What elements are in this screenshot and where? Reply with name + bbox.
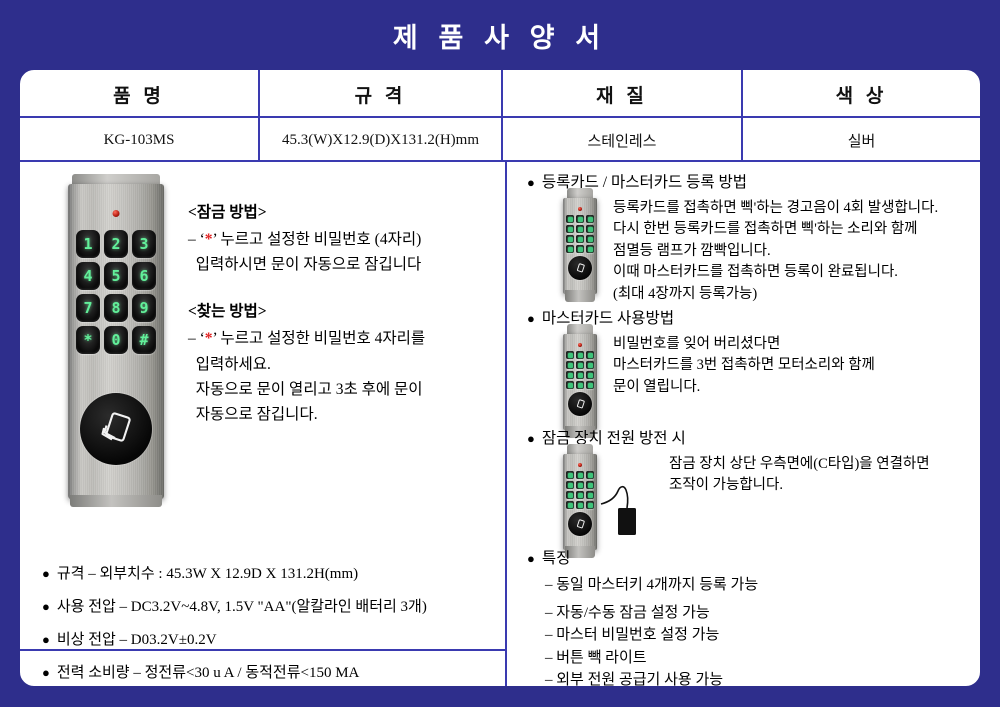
section-title-power-discharge: 잠금 장치 전원 방전 시	[542, 426, 686, 448]
key-cell	[576, 215, 584, 223]
bullet-icon: ●	[527, 552, 535, 565]
lock-method-heading: <잠금 방법>	[188, 200, 488, 225]
header-cell-dimensions: 규 격	[260, 70, 503, 118]
spec-item-emergency-voltage: ● 비상 전압 – D03.2V±0.2V	[42, 628, 491, 649]
header-cell-material: 재 질	[503, 70, 743, 118]
key-cell	[586, 371, 594, 379]
find-method-line-3: 자동으로 문이 열리고 3초 후에 문이	[188, 377, 488, 402]
rfid-reader-area	[568, 392, 592, 416]
lock-method-line-1: – ‘*’ 누르고 설정한 비밀번호 (4자리)	[188, 227, 488, 252]
key-asterisk[interactable]: *	[76, 326, 100, 354]
section-mastercard-usage: ● 마스터카드 사용방법	[527, 306, 972, 430]
feature-item-auto-manual-lock: – 자동/수동 잠금 설정 가능	[545, 602, 972, 625]
key-cell	[576, 351, 584, 359]
spec-text-emergency-voltage: 비상 전압 – D03.2V±0.2V	[57, 628, 217, 649]
lock-line1-prefix: – ‘	[188, 231, 205, 248]
key-9[interactable]: 9	[132, 294, 156, 322]
rfid-card-icon	[574, 262, 587, 275]
key-cell	[586, 491, 594, 499]
key-cell	[566, 361, 574, 369]
spec-item-dimensions: ● 규격 – 외부치수 : 45.3W X 12.9D X 131.2H(mm)	[42, 562, 491, 583]
status-led-indicator	[113, 210, 120, 217]
key-2[interactable]: 2	[104, 230, 128, 258]
key-cell	[586, 215, 594, 223]
key-cell	[586, 361, 594, 369]
asterisk-symbol: *	[205, 231, 213, 248]
section-body: 잠금 장치 상단 우측면에(C타입)을 연결하면 조작이 가능합니다.	[527, 454, 972, 550]
section-features: ● 특징 – 동일 마스터키 4개까지 등록 가능 – 자동/수동 잠금 설정 …	[527, 546, 972, 688]
key-8[interactable]: 8	[104, 294, 128, 322]
key-cell	[576, 225, 584, 233]
features-list: – 동일 마스터키 4개까지 등록 가능 – 자동/수동 잠금 설정 가능 – …	[527, 574, 972, 688]
section-power-discharge: ● 잠금 장치 전원 방전 시	[527, 426, 972, 550]
bullet-icon: ●	[42, 567, 50, 580]
product-spec-sheet: 제 품 사 양 서 품 명 규 격 재 질 색 상 KG-103MS 45.3(…	[0, 0, 1000, 707]
key-cell	[566, 491, 574, 499]
key-hash[interactable]: #	[132, 326, 156, 354]
section-card-registration: ● 등록카드 / 마스터카드 등록 방법	[527, 170, 972, 305]
key-cell	[586, 481, 594, 489]
key-cell	[576, 381, 584, 389]
product-photo-main: 1 2 3 4 5 6 7 8 9 * 0 #	[68, 184, 164, 499]
key-cell	[566, 245, 574, 253]
key-cell	[586, 235, 594, 243]
key-cell	[576, 501, 584, 509]
feature-item-master-password: – 마스터 비밀번호 설정 가능	[545, 624, 972, 647]
key-cell	[576, 491, 584, 499]
keypad-grid	[566, 471, 594, 509]
status-led-indicator	[578, 343, 582, 347]
lock-method-line-2: 입력하시면 문이 자동으로 잠깁니다	[188, 252, 488, 277]
text-spacer	[188, 277, 488, 299]
key-cell	[566, 371, 574, 379]
key-6[interactable]: 6	[132, 262, 156, 290]
rfid-reader-area	[568, 512, 592, 536]
key-cell	[566, 215, 574, 223]
spec-text-voltage: 사용 전압 – DC3.2V~4.8V, 1.5V "AA"(알칼라인 배터리 …	[57, 595, 427, 616]
key-cell	[566, 235, 574, 243]
usb-c-cable-illustration	[599, 454, 653, 550]
spec-text-dimensions: 규격 – 외부치수 : 45.3W X 12.9D X 131.2H(mm)	[57, 562, 358, 583]
asterisk-symbol-2: *	[205, 330, 213, 347]
status-led-indicator	[578, 463, 582, 467]
device-bottom-bevel	[70, 495, 162, 507]
device-bottom-bevel	[565, 290, 595, 302]
spec-item-voltage: ● 사용 전압 – DC3.2V~4.8V, 1.5V "AA"(알칼라인 배터…	[42, 595, 491, 616]
feature-item-external-power: – 외부 전원 공급기 사용 가능	[545, 669, 972, 688]
lock-line1-suffix: ’ 누르고 설정한 비밀번호 (4자리)	[213, 231, 422, 248]
table-body: 1 2 3 4 5 6 7 8 9 * 0 #	[20, 162, 980, 686]
key-cell	[586, 225, 594, 233]
key-7[interactable]: 7	[76, 294, 100, 322]
technical-specs-list: ● 규격 – 외부치수 : 45.3W X 12.9D X 131.2H(mm)…	[42, 562, 491, 688]
key-cell	[576, 371, 584, 379]
section-title-row: ● 특징	[527, 546, 972, 568]
section-body: 등록카드를 접촉하면 삑'하는 경고음이 4회 발생합니다. 다시 한번 등록카…	[527, 198, 972, 305]
power-bank-icon	[599, 472, 653, 542]
value-cell-dimensions: 45.3(W)X12.9(D)X131.2(H)mm	[260, 118, 503, 162]
bullet-icon: ●	[42, 600, 50, 613]
product-thumbnail-1	[563, 198, 597, 294]
rfid-card-icon	[574, 518, 587, 531]
key-cell	[576, 235, 584, 243]
section-title-row: ● 마스터카드 사용방법	[527, 306, 972, 328]
key-cell	[566, 225, 574, 233]
find-method-line-2: 입력하세요.	[188, 352, 488, 377]
keypad-grid: 1 2 3 4 5 6 7 8 9 * 0 #	[76, 230, 156, 354]
bullet-icon: ●	[527, 176, 535, 189]
key-cell	[576, 471, 584, 479]
key-cell	[576, 245, 584, 253]
key-cell	[566, 471, 574, 479]
section-text-mastercard-usage: 비밀번호를 잊어 버리셨다면 마스터카드를 3번 접촉하면 모터소리와 함께 문…	[613, 334, 875, 398]
keypad-grid	[566, 351, 594, 389]
key-cell	[586, 351, 594, 359]
feature-item-master-key: – 동일 마스터키 4개까지 등록 가능	[545, 574, 972, 597]
find-method-line-4: 자동으로 잠깁니다.	[188, 402, 488, 427]
key-cell	[586, 471, 594, 479]
bullet-icon: ●	[42, 666, 50, 679]
section-title-mastercard-usage: 마스터카드 사용방법	[542, 306, 674, 328]
key-cell	[566, 351, 574, 359]
feature-item-backlight: – 버튼 빽 라이트	[545, 647, 972, 670]
value-cell-product-name: KG-103MS	[20, 118, 260, 162]
spec-sheet-table: 품 명 규 격 재 질 색 상 KG-103MS 45.3(W)X12.9(D)…	[18, 68, 982, 688]
find-method-heading: <찾는 방법>	[188, 299, 488, 324]
value-cell-color: 실버	[743, 118, 980, 162]
section-title-row: ● 등록카드 / 마스터카드 등록 방법	[527, 170, 972, 192]
spec-text-power-consumption: 전력 소비량 – 정전류<30 u A / 동적전류<150 MA	[57, 661, 360, 682]
key-5[interactable]: 5	[104, 262, 128, 290]
rfid-card-icon	[574, 398, 587, 411]
key-cell	[566, 481, 574, 489]
key-cell	[586, 245, 594, 253]
section-title-features: 특징	[542, 546, 571, 568]
find-line1-prefix: – ‘	[188, 330, 205, 347]
bullet-icon: ●	[527, 432, 535, 445]
product-thumbnail-2	[563, 334, 597, 430]
find-method-line-1: – ‘*’ 누르고 설정한 비밀번호 4자리를	[188, 326, 488, 351]
find-line1-suffix: ’ 누르고 설정한 비밀번호 4자리를	[213, 330, 426, 347]
section-text-power-discharge: 잠금 장치 상단 우측면에(C타입)을 연결하면 조작이 가능합니다.	[669, 454, 930, 497]
section-text-card-registration: 등록카드를 접촉하면 삑'하는 경고음이 4회 발생합니다. 다시 한번 등록카…	[613, 198, 938, 305]
header-cell-color: 색 상	[743, 70, 980, 118]
rfid-reader-area	[568, 256, 592, 280]
header-cell-product-name: 품 명	[20, 70, 260, 118]
product-thumbnail-3	[563, 454, 597, 550]
key-cell	[586, 381, 594, 389]
key-cell	[566, 501, 574, 509]
left-panel: 1 2 3 4 5 6 7 8 9 * 0 #	[20, 162, 505, 686]
keypad-grid	[566, 215, 594, 253]
rfid-reader-area[interactable]	[80, 393, 152, 465]
status-led-indicator	[578, 207, 582, 211]
key-0[interactable]: 0	[104, 326, 128, 354]
bullet-icon: ●	[42, 633, 50, 646]
bullet-icon: ●	[527, 312, 535, 325]
key-cell	[586, 501, 594, 509]
section-title-row: ● 잠금 장치 전원 방전 시	[527, 426, 972, 448]
value-cell-material: 스테인레스	[503, 118, 743, 162]
table-value-row: KG-103MS 45.3(W)X12.9(D)X131.2(H)mm 스테인레…	[20, 118, 980, 162]
key-cell	[576, 361, 584, 369]
key-1[interactable]: 1	[76, 230, 100, 258]
page-title: 제 품 사 양 서	[0, 16, 1000, 55]
key-cell	[576, 481, 584, 489]
rfid-card-icon	[96, 409, 136, 449]
section-body: 비밀번호를 잊어 버리셨다면 마스터카드를 3번 접촉하면 모터소리와 함께 문…	[527, 334, 972, 430]
left-instructions: <잠금 방법> – ‘*’ 누르고 설정한 비밀번호 (4자리) 입력하시면 문…	[188, 200, 488, 427]
right-panel: ● 등록카드 / 마스터카드 등록 방법	[507, 162, 980, 686]
key-3[interactable]: 3	[132, 230, 156, 258]
spec-item-power-consumption: ● 전력 소비량 – 정전류<30 u A / 동적전류<150 MA	[42, 661, 491, 682]
table-header-row: 품 명 규 격 재 질 색 상	[20, 70, 980, 118]
key-cell	[566, 381, 574, 389]
key-4[interactable]: 4	[76, 262, 100, 290]
